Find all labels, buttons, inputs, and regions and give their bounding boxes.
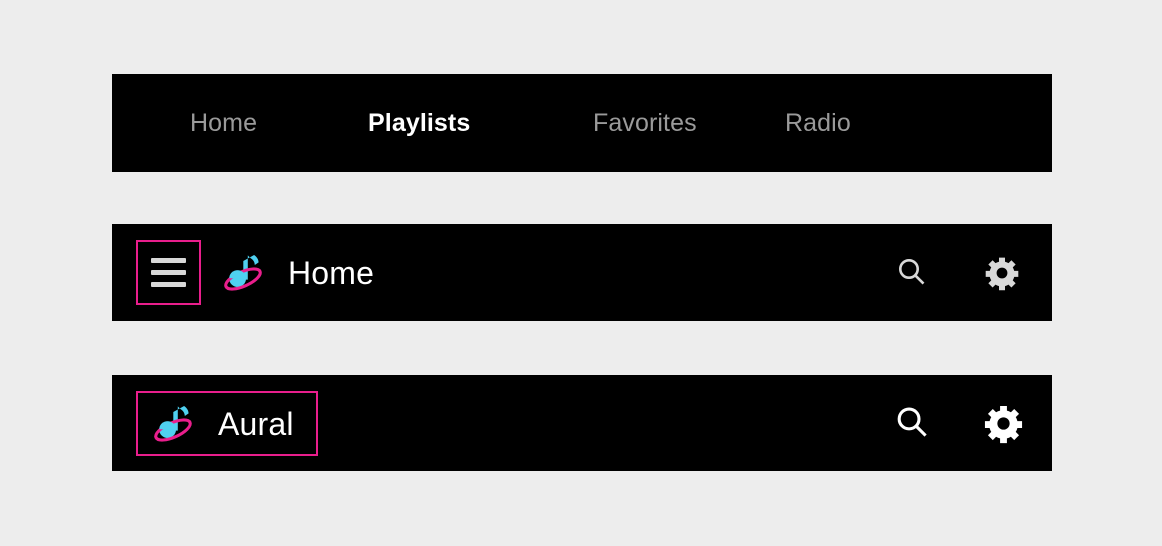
aural-app-bar: Aural: [112, 375, 1052, 471]
gear-icon: [984, 255, 1020, 291]
search-button[interactable]: [892, 403, 933, 444]
aural-brand-button[interactable]: Aural: [136, 391, 318, 456]
nav-item-radio[interactable]: Radio: [785, 111, 905, 136]
search-icon: [894, 255, 930, 291]
nav-item-list: Home Playlists Favorites Radio: [112, 74, 1052, 172]
settings-button[interactable]: [984, 255, 1020, 291]
aural-app-bar-title: Aural: [218, 408, 294, 440]
search-button[interactable]: [894, 255, 930, 291]
aural-music-note-logo: [150, 400, 198, 448]
nav-item-home[interactable]: Home: [190, 111, 368, 136]
home-app-bar: Home: [112, 224, 1052, 321]
top-navigation-bar: Home Playlists Favorites Radio: [112, 74, 1052, 172]
home-app-bar-actions: [894, 224, 1020, 321]
hamburger-menu-icon: [151, 258, 186, 263]
hamburger-menu-button[interactable]: [136, 240, 201, 305]
nav-item-favorites[interactable]: Favorites: [593, 111, 785, 136]
gear-icon: [983, 403, 1024, 444]
nav-item-playlists[interactable]: Playlists: [368, 111, 593, 136]
aural-music-note-logo: [220, 249, 268, 297]
settings-button[interactable]: [983, 403, 1024, 444]
search-icon: [892, 403, 933, 444]
hamburger-menu-icon-line: [151, 282, 186, 287]
home-brand: Home: [220, 224, 374, 321]
home-app-bar-title: Home: [288, 257, 374, 289]
aural-app-bar-actions: [892, 375, 1024, 471]
hamburger-menu-icon-line: [151, 270, 186, 275]
